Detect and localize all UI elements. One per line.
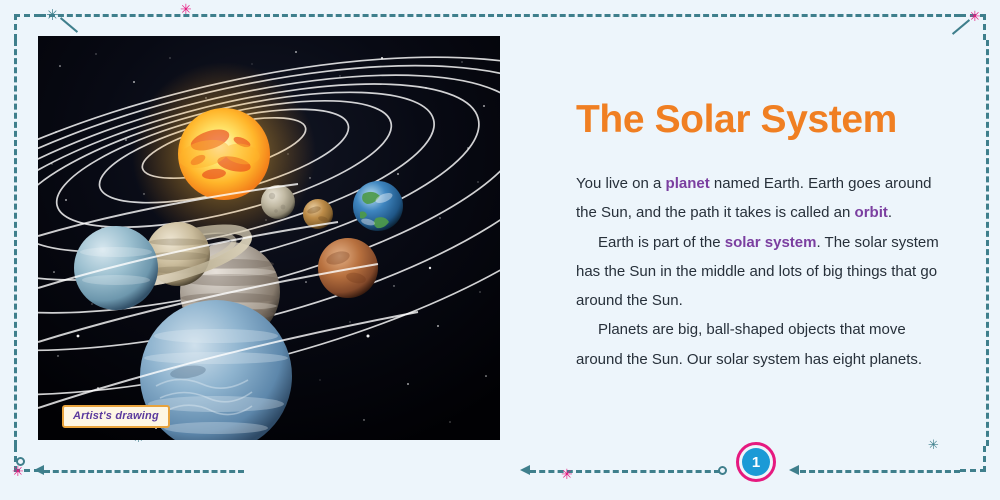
page-number-label: 1 [742,448,770,476]
keyword-planet: planet [666,175,710,192]
mercury-body [261,185,295,219]
star-icon: ✳ [928,439,939,452]
star-icon: ✳ [180,3,192,17]
comet-tail-top-left [60,17,78,33]
text-run: Earth is part of the [598,234,725,251]
mars-body [318,238,378,298]
image-caption: Artist's drawing [62,405,170,428]
text-run: . [888,204,892,221]
paragraph-3: Planets are big, ball-shaped objects tha… [576,315,944,374]
keyword-solar-system: solar system [725,234,817,251]
sun-body [132,62,316,246]
text-run: Planets are big, ball-shaped objects tha… [576,321,922,367]
border-bottom-dashed-line-mid [530,470,720,473]
page-title: The Solar System [576,100,944,139]
solar-system-artwork [38,36,500,440]
border-arrow-left-1 [34,465,44,475]
keyword-orbit: orbit [855,204,888,221]
earth-body [353,181,403,231]
book-page: ✳ ✳ ✳ ✳ ✳ ✳ ✳ [0,0,1000,500]
border-left-dashed-line [14,40,17,446]
border-arrow-left-3 [789,465,799,475]
star-icon: ✳ [969,10,981,24]
solar-system-illustration: Artist's drawing [38,36,500,440]
star-icon: ✳ [12,465,24,479]
border-corner-top-left [14,14,40,40]
border-arrow-left-2 [520,465,530,475]
border-bottom-dashed-line-left [44,470,244,473]
star-icon: ✳ [46,8,59,23]
border-endcap-circle-mid [718,466,727,475]
star-icon: ✳ [561,468,573,482]
paragraph-2: Earth is part of the solar system. The s… [576,228,944,316]
text-run: You live on a [576,175,666,192]
page-number-badge: 1 [736,442,776,482]
border-bottom-dashed-line-right [800,470,960,473]
paragraph-1: You live on a planet named Earth. Earth … [576,169,944,228]
article-text-column: The Solar System You live on a planet na… [576,100,944,374]
border-corner-bottom-right [960,446,986,472]
border-right-dashed-line [986,40,989,446]
uranus-body [74,226,158,310]
border-top-dashed-line [40,14,960,17]
